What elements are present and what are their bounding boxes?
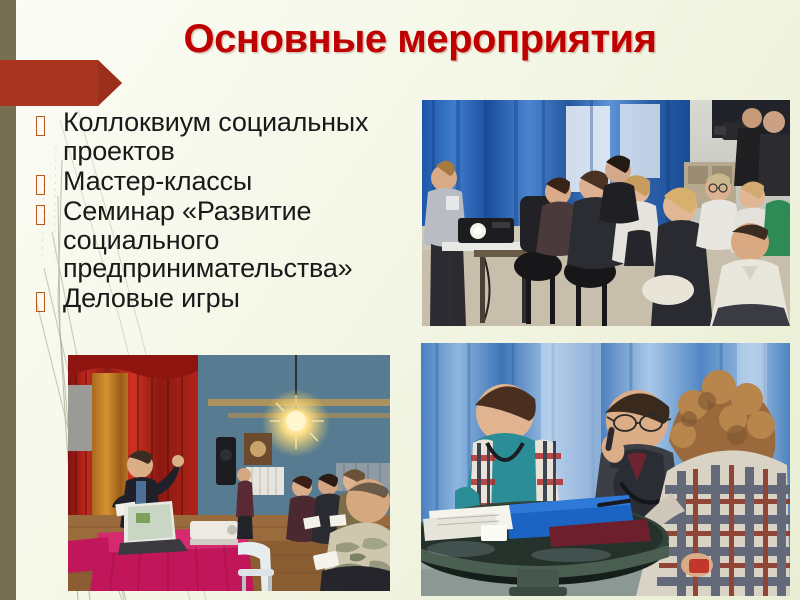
presentation-slide: Основные мероприятия Коллоквиум социальн… (0, 0, 800, 600)
list-item-label: Коллоквиум социальных проектов (63, 108, 436, 166)
list-item: Коллоквиум социальных проектов (36, 108, 436, 166)
presentation-hall-photo (68, 355, 390, 591)
hollow-box-bullet-icon (36, 116, 45, 136)
hollow-box-bullet-icon (36, 175, 45, 195)
list-item: Семинар «Развитие социального предприним… (36, 197, 436, 284)
round-table-discussion-photo (421, 343, 790, 596)
hollow-box-bullet-icon (36, 292, 45, 312)
list-item-label: Мастер-классы (63, 167, 436, 196)
seminar-audience-photo (422, 100, 790, 326)
page-title: Основные мероприятия (120, 17, 720, 62)
bullet-list: Коллоквиум социальных проектов Мастер-кл… (36, 108, 436, 314)
list-item: Мастер-классы (36, 167, 436, 196)
list-item-label: Деловые игры (63, 284, 436, 313)
accent-arrow-banner (0, 60, 122, 106)
list-item-label: Семинар «Развитие социального предприним… (63, 197, 436, 284)
list-item: Деловые игры (36, 284, 436, 313)
hollow-box-bullet-icon (36, 205, 45, 225)
